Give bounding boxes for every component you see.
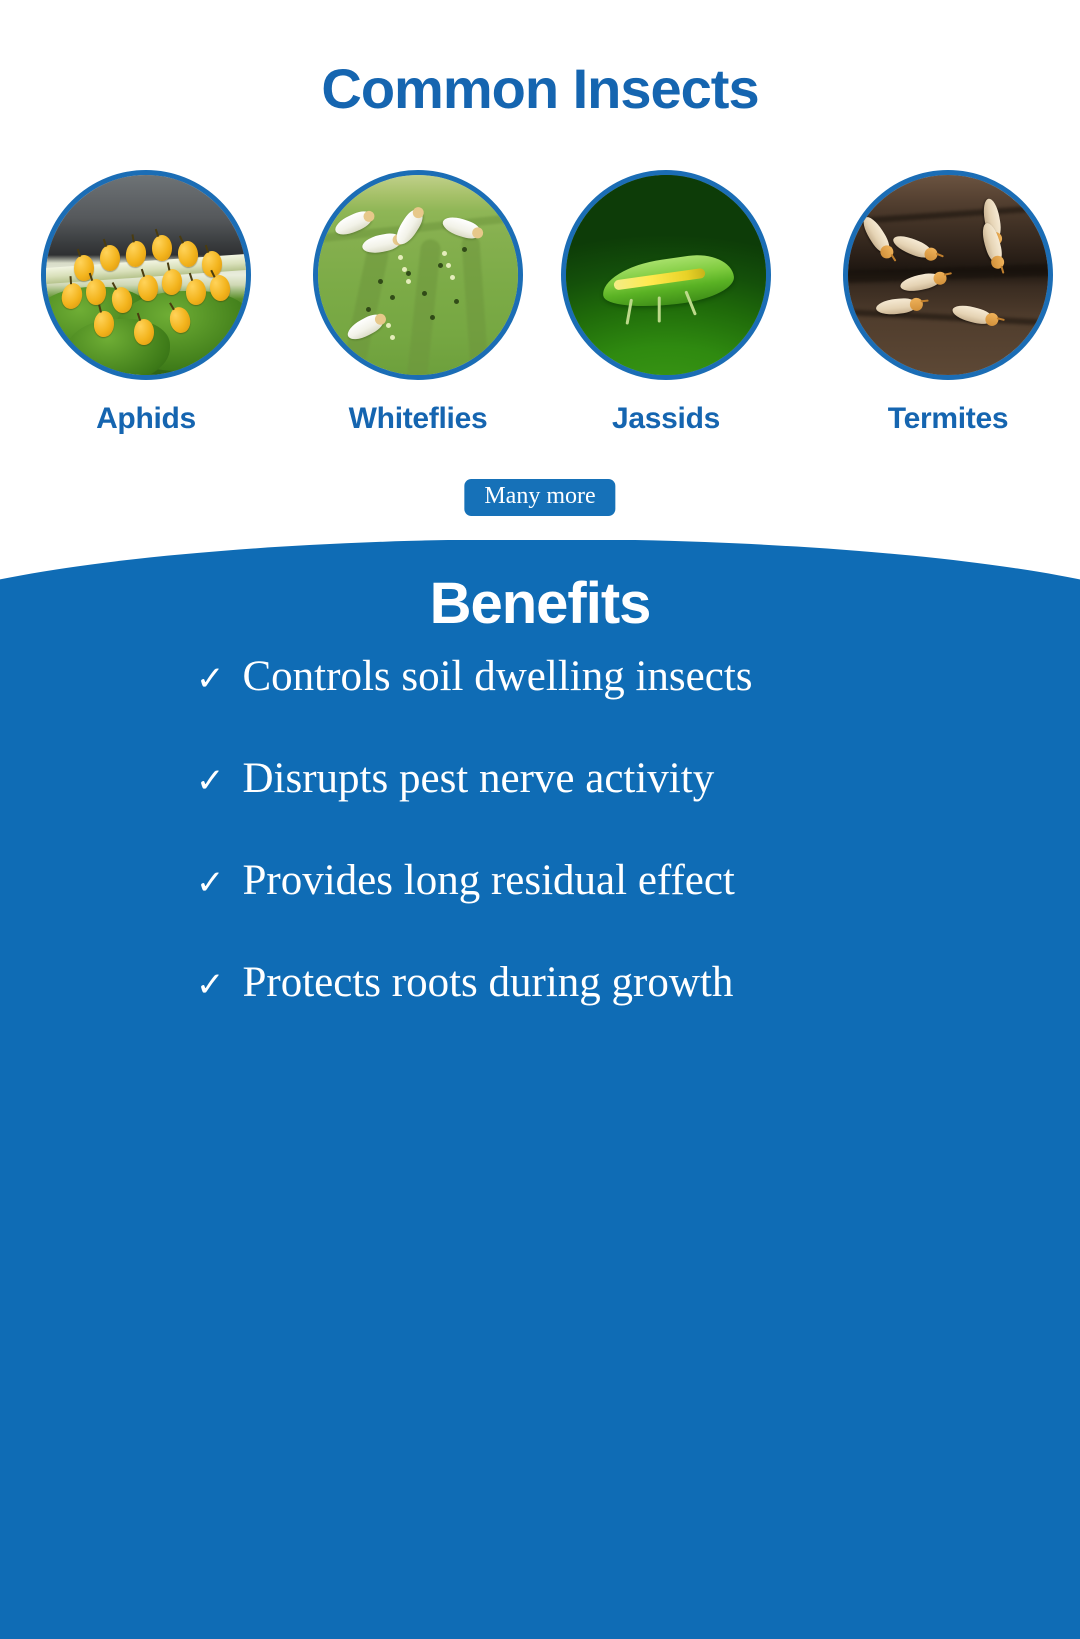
page-title: Common Insects bbox=[0, 56, 1080, 121]
insect-label-whiteflies: Whiteflies bbox=[308, 402, 528, 436]
benefit-item: ✓ Provides long residual effect bbox=[0, 859, 1080, 961]
many-more-badge[interactable]: Many more bbox=[464, 479, 615, 516]
insect-card-aphids[interactable]: Aphids bbox=[36, 170, 256, 436]
insect-card-whiteflies[interactable]: Whiteflies bbox=[308, 170, 528, 436]
benefit-text: Controls soil dwelling insects bbox=[243, 655, 753, 698]
whiteflies-photo bbox=[318, 175, 518, 375]
insect-gallery: Aphids bbox=[0, 170, 1080, 480]
termites-photo-frame bbox=[843, 170, 1053, 380]
jassids-photo-frame bbox=[561, 170, 771, 380]
jassids-photo bbox=[566, 175, 766, 375]
whiteflies-photo-frame bbox=[313, 170, 523, 380]
benefit-text: Disrupts pest nerve activity bbox=[243, 757, 715, 800]
benefits-list: ✓ Controls soil dwelling insects ✓ Disru… bbox=[0, 655, 1080, 1063]
insect-label-termites: Termites bbox=[838, 402, 1058, 436]
benefits-title: Benefits bbox=[0, 570, 1080, 637]
check-icon: ✓ bbox=[196, 764, 225, 798]
insect-label-aphids: Aphids bbox=[36, 402, 256, 436]
benefit-item: ✓ Protects roots during growth bbox=[0, 961, 1080, 1063]
common-insects-section: Common Insects bbox=[0, 0, 1080, 540]
insect-label-jassids: Jassids bbox=[556, 402, 776, 436]
termites-photo bbox=[848, 175, 1048, 375]
check-icon: ✓ bbox=[196, 866, 225, 900]
benefit-item: ✓ Disrupts pest nerve activity bbox=[0, 757, 1080, 859]
check-icon: ✓ bbox=[196, 662, 225, 696]
aphids-photo bbox=[46, 175, 246, 375]
aphids-photo-frame bbox=[41, 170, 251, 380]
insect-card-termites[interactable]: Termites bbox=[838, 170, 1058, 436]
benefit-text: Protects roots during growth bbox=[243, 961, 734, 1004]
benefit-item: ✓ Controls soil dwelling insects bbox=[0, 655, 1080, 757]
benefit-text: Provides long residual effect bbox=[243, 859, 735, 902]
check-icon: ✓ bbox=[196, 968, 225, 1002]
insect-card-jassids[interactable]: Jassids bbox=[556, 170, 776, 436]
